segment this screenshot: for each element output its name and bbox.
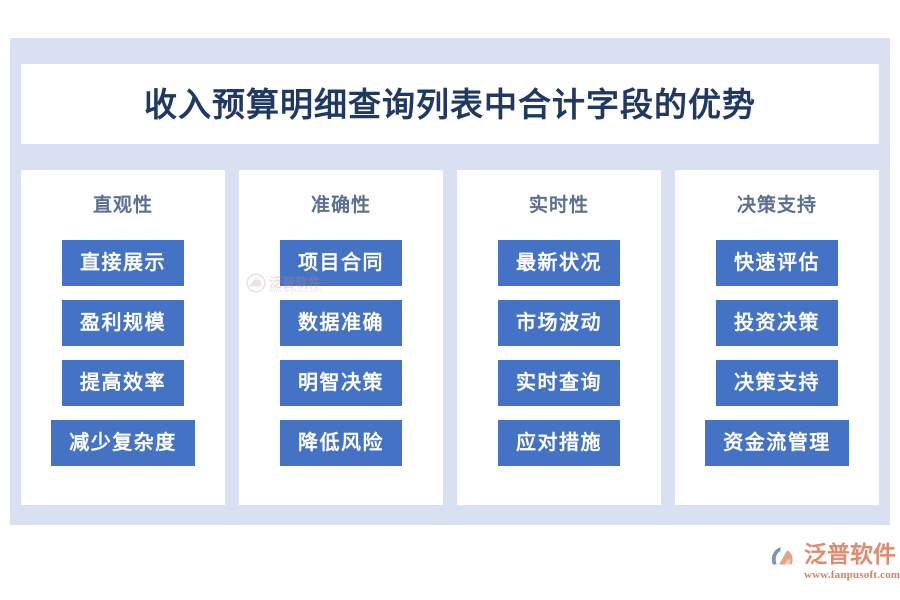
- brand-name: 泛普软件: [804, 540, 896, 570]
- column-card-3: 实时性 最新状况 市场波动 实时查询 应对措施: [457, 170, 661, 505]
- chip-item[interactable]: 减少复杂度: [51, 420, 195, 466]
- title-card: 收入预算明细查询列表中合计字段的优势: [21, 64, 879, 144]
- chip-item[interactable]: 项目合同: [280, 240, 402, 286]
- column-heading-3: 实时性: [529, 196, 589, 215]
- chip-item[interactable]: 应对措施: [498, 420, 620, 466]
- column-heading-1: 直观性: [93, 196, 153, 215]
- chip-item[interactable]: 明智决策: [280, 360, 402, 406]
- chip-item[interactable]: 市场波动: [498, 300, 620, 346]
- brand-logo: 泛普软件 www.fanpusoft.com: [768, 540, 890, 588]
- column-heading-4: 决策支持: [737, 196, 817, 215]
- brand-mark-icon: [768, 542, 802, 572]
- chip-item[interactable]: 快速评估: [716, 240, 838, 286]
- page-title: 收入预算明细查询列表中合计字段的优势: [144, 88, 756, 121]
- chip-item[interactable]: 降低风险: [280, 420, 402, 466]
- chip-list-4: 快速评估 投资决策 决策支持 资金流管理: [675, 240, 879, 466]
- column-card-1: 直观性 直接展示 盈利规模 提高效率 减少复杂度: [21, 170, 225, 505]
- chip-item[interactable]: 投资决策: [716, 300, 838, 346]
- columns-container: 直观性 直接展示 盈利规模 提高效率 减少复杂度 泛普软件 www.fanpus…: [21, 170, 879, 505]
- chip-item[interactable]: 最新状况: [498, 240, 620, 286]
- chip-item[interactable]: 提高效率: [62, 360, 184, 406]
- brand-url: www.fanpusoft.com: [804, 569, 900, 581]
- chip-list-3: 最新状况 市场波动 实时查询 应对措施: [457, 240, 661, 466]
- chip-item[interactable]: 实时查询: [498, 360, 620, 406]
- chip-item[interactable]: 盈利规模: [62, 300, 184, 346]
- chip-item[interactable]: 资金流管理: [705, 420, 849, 466]
- column-heading-2: 准确性: [311, 196, 371, 215]
- chip-list-2: 项目合同 数据准确 明智决策 降低风险: [239, 240, 443, 466]
- chip-list-1: 直接展示 盈利规模 提高效率 减少复杂度: [21, 240, 225, 466]
- chip-item[interactable]: 数据准确: [280, 300, 402, 346]
- chip-item[interactable]: 直接展示: [62, 240, 184, 286]
- chip-item[interactable]: 决策支持: [716, 360, 838, 406]
- column-card-2: 泛普软件 www.fanpusoft.com 准确性 项目合同 数据准确 明智决…: [239, 170, 443, 505]
- column-card-4: 决策支持 快速评估 投资决策 决策支持 资金流管理: [675, 170, 879, 505]
